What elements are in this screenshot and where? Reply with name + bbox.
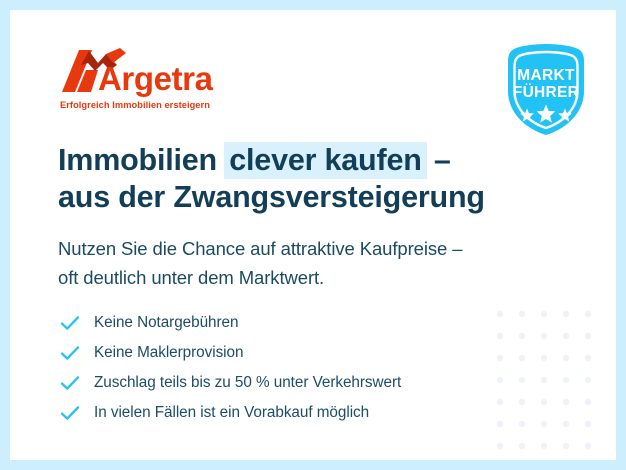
subheadline-line-1: Nutzen Sie die Chance auf attraktive Kau… — [58, 238, 462, 259]
headline-highlight: clever kaufen — [224, 142, 426, 179]
shield-icon — [496, 39, 596, 139]
benefit-item: Keine Maklerprovision — [60, 338, 530, 368]
check-icon — [60, 372, 94, 394]
benefit-label: Keine Maklerprovision — [94, 344, 243, 362]
headline-line-2: aus der Zwangsversteigerung — [58, 180, 485, 214]
benefit-item: In vielen Fällen ist ein Vorabkauf mögli… — [60, 398, 530, 428]
benefit-label: Zuschlag teils bis zu 50 % unter Verkehr… — [94, 374, 401, 392]
benefit-label: In vielen Fällen ist ein Vorabkauf mögli… — [94, 404, 369, 422]
benefits-list: Keine NotargebührenKeine Maklerprovision… — [60, 308, 530, 428]
headline: Immobilien clever kaufen – aus der Zwang… — [58, 142, 578, 216]
check-icon — [60, 312, 94, 334]
headline-part-2: – — [426, 143, 451, 177]
subheadline: Nutzen Sie die Chance auf attraktive Kau… — [58, 234, 578, 292]
logo-wordmark: Argetra — [98, 62, 213, 95]
logo-tagline: Erfolgreich Immobilien ersteigern — [60, 100, 210, 110]
benefit-item: Keine Notargebühren — [60, 308, 530, 338]
argetra-logo[interactable]: Argetra Erfolgreich Immobilien ersteiger… — [58, 44, 258, 116]
promo-banner: Argetra Erfolgreich Immobilien ersteiger… — [10, 10, 616, 460]
benefit-label: Keine Notargebühren — [94, 314, 238, 332]
headline-part-1: Immobilien — [58, 143, 225, 177]
check-icon — [60, 342, 94, 364]
benefit-item: Zuschlag teils bis zu 50 % unter Verkehr… — [60, 368, 530, 398]
subheadline-line-2: oft deutlich unter dem Marktwert. — [58, 267, 324, 288]
check-icon — [60, 402, 94, 424]
market-leader-badge: MARKT FÜHRER — [496, 39, 596, 139]
